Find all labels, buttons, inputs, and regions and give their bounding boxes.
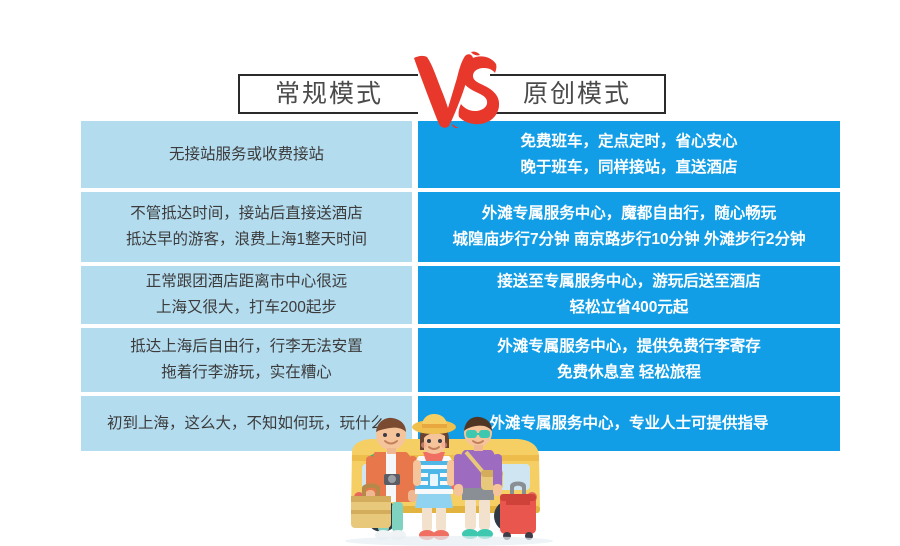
text-line: 抵达上海后自由行，行李无法安置: [130, 334, 363, 360]
text-line: 免费休息室 轻松旅程: [497, 360, 761, 386]
cell-text: 免费班车，定点定时，省心安心 晚于班车，同样接站，直送酒店: [520, 129, 737, 181]
cell-text: 无接站服务或收费接站: [169, 142, 324, 168]
cell-text: 外滩专属服务中心，提供免费行李寄存 免费休息室 轻松旅程: [497, 334, 761, 386]
text-line: 正常跟团酒店距离市中心很远: [146, 269, 348, 295]
right-mode-label: 原创模式: [523, 82, 631, 107]
text-line: 接送至专属服务中心，游玩后送至酒店: [497, 269, 761, 295]
text-line: 无接站服务或收费接站: [169, 142, 324, 168]
header: 常规模式 原创模式: [0, 30, 900, 100]
cell-text: 抵达上海后自由行，行李无法安置 拖着行李游玩，实在糟心: [130, 334, 363, 386]
right-mode-box: 原创模式: [490, 74, 666, 114]
text-line: 抵达早的游客，浪费上海1整天时间: [126, 227, 367, 253]
travelers-illustration: [318, 398, 580, 546]
table-row: 正常跟团酒店距离市中心很远 上海又很大，打车200起步: [81, 266, 412, 324]
table-row: 外滩专属服务中心，魔都自由行，随心畅玩 城隍庙步行7分钟 南京路步行10分钟 外…: [418, 192, 840, 262]
vs-icon: [408, 50, 502, 128]
table-row: 外滩专属服务中心，提供免费行李寄存 免费休息室 轻松旅程: [418, 328, 840, 392]
text-line: 不管抵达时间，接站后直接送酒店: [126, 201, 367, 227]
table-row: 抵达上海后自由行，行李无法安置 拖着行李游玩，实在糟心: [81, 328, 412, 392]
table-row: 接送至专属服务中心，游玩后送至酒店 轻松立省400元起: [418, 266, 840, 324]
cell-text: 接送至专属服务中心，游玩后送至酒店 轻松立省400元起: [497, 269, 761, 321]
cell-text: 正常跟团酒店距离市中心很远 上海又很大，打车200起步: [146, 269, 348, 321]
table-row: 无接站服务或收费接站: [81, 121, 412, 188]
left-mode-label: 常规模式: [275, 82, 383, 107]
text-line: 拖着行李游玩，实在糟心: [130, 360, 363, 386]
text-line: 城隍庙步行7分钟 南京路步行10分钟 外滩步行2分钟: [452, 227, 805, 253]
cell-text: 外滩专属服务中心，魔都自由行，随心畅玩 城隍庙步行7分钟 南京路步行10分钟 外…: [452, 201, 805, 253]
traveler-center: [412, 414, 459, 540]
text-line: 轻松立省400元起: [497, 295, 761, 321]
text-line: 外滩专属服务中心，魔都自由行，随心畅玩: [452, 201, 805, 227]
table-row: 不管抵达时间，接站后直接送酒店 抵达早的游客，浪费上海1整天时间: [81, 192, 412, 262]
text-line: 晚于班车，同样接站，直送酒店: [520, 155, 737, 181]
table-row: 免费班车，定点定时，省心安心 晚于班车，同样接站，直送酒店: [418, 121, 840, 188]
cell-text: 不管抵达时间，接站后直接送酒店 抵达早的游客，浪费上海1整天时间: [126, 201, 367, 253]
text-line: 上海又很大，打车200起步: [146, 295, 348, 321]
text-line: 外滩专属服务中心，提供免费行李寄存: [497, 334, 761, 360]
text-line: 免费班车，定点定时，省心安心: [520, 129, 737, 155]
left-mode-box: 常规模式: [238, 74, 418, 114]
